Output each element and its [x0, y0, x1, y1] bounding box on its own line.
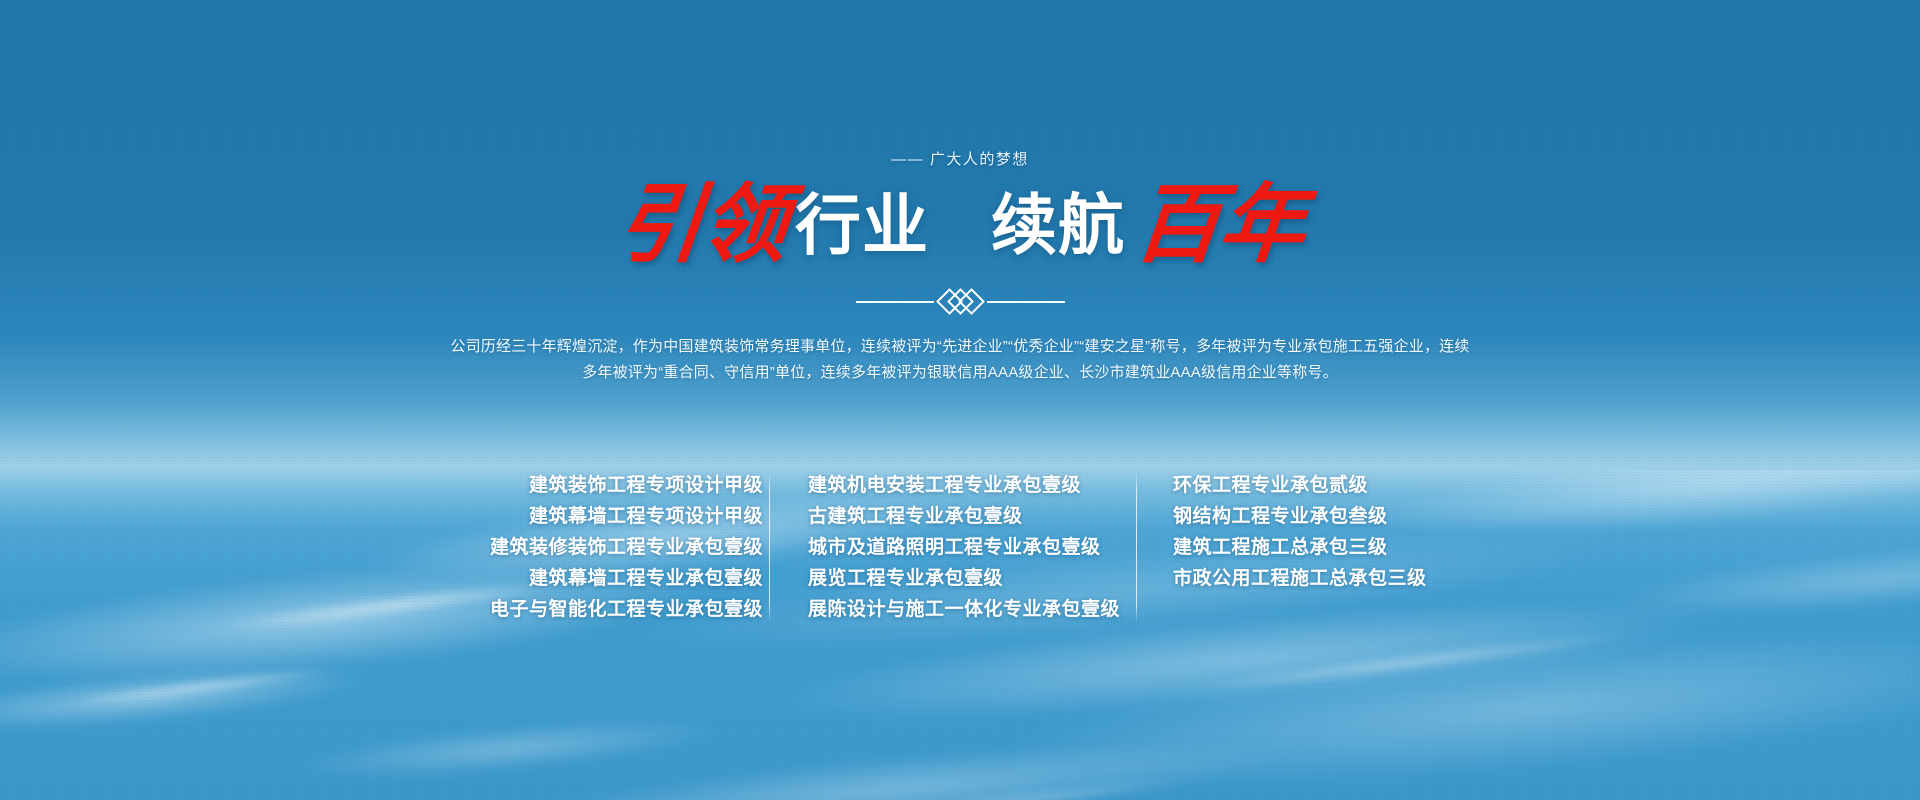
qualification-item: 城市及道路照明工程专业承包壹级 [808, 532, 1101, 563]
qualification-item: 钢结构工程专业承包叁级 [1173, 501, 1388, 532]
qualification-item: 环保工程专业承包贰级 [1173, 470, 1368, 501]
eyebrow-tagline: —— 广大人的梦想 [0, 148, 1920, 169]
headline: 引领行业续航百年 [0, 182, 1920, 268]
qualification-item: 展陈设计与施工一体化专业承包壹级 [808, 594, 1120, 625]
intro-paragraph: 公司历经三十年辉煌沉淀，作为中国建筑装饰常务理事单位，连续被评为“先进企业”“优… [437, 334, 1483, 386]
qualification-item: 建筑装修装饰工程专业承包壹级 [490, 532, 763, 563]
headline-part-industry-white: 行业 [785, 192, 939, 258]
intro-line: 多年被评为“重合同、守信用”单位，连续多年被评为银联信用AAA级企业、长沙市建筑… [437, 360, 1483, 386]
qualification-item: 建筑工程施工总承包三级 [1173, 532, 1388, 563]
qualification-item: 市政公用工程施工总承包三级 [1173, 563, 1427, 594]
qualification-item: 建筑机电安装工程专业承包壹级 [808, 470, 1081, 501]
headline-part-endurance-white: 续航 [981, 192, 1135, 258]
headline-part-lead-red: 引领 [612, 182, 789, 268]
qualification-item: 建筑幕墙工程专项设计甲级 [529, 501, 763, 532]
divider-rule-right [987, 301, 1065, 303]
qualification-item: 建筑装饰工程专项设计甲级 [529, 470, 763, 501]
qualification-item: 电子与智能化工程专业承包壹级 [490, 594, 763, 625]
qualification-item: 建筑幕墙工程专业承包壹级 [529, 563, 763, 594]
qualifications-section: 建筑装饰工程专项设计甲级 建筑幕墙工程专项设计甲级 建筑装修装饰工程专业承包壹级… [463, 470, 1457, 625]
headline-part-century-red: 百年 [1130, 182, 1307, 268]
intro-line: 公司历经三十年辉煌沉淀，作为中国建筑装饰常务理事单位，连续被评为“先进企业”“优… [437, 334, 1483, 360]
divider-diamonds [944, 292, 977, 311]
diamond-divider-icon [0, 292, 1920, 311]
qualification-item: 古建筑工程专业承包壹级 [808, 501, 1023, 532]
hero-banner: —— 广大人的梦想 引领行业续航百年 公司历经三十年辉煌沉淀，作为中国建筑装饰常… [0, 0, 1920, 800]
qualification-column-2: 建筑机电安装工程专业承包壹级 古建筑工程专业承包壹级 城市及道路照明工程专业承包… [770, 470, 1130, 625]
divider-rule-left [856, 301, 934, 303]
qualification-column-3: 环保工程专业承包贰级 钢结构工程专业承包叁级 建筑工程施工总承包三级 市政公用工… [1137, 470, 1457, 594]
qualification-column-1: 建筑装饰工程专项设计甲级 建筑幕墙工程专项设计甲级 建筑装修装饰工程专业承包壹级… [463, 470, 763, 625]
banner-content: —— 广大人的梦想 引领行业续航百年 公司历经三十年辉煌沉淀，作为中国建筑装饰常… [0, 0, 1920, 800]
qualification-item: 展览工程专业承包壹级 [808, 563, 1003, 594]
